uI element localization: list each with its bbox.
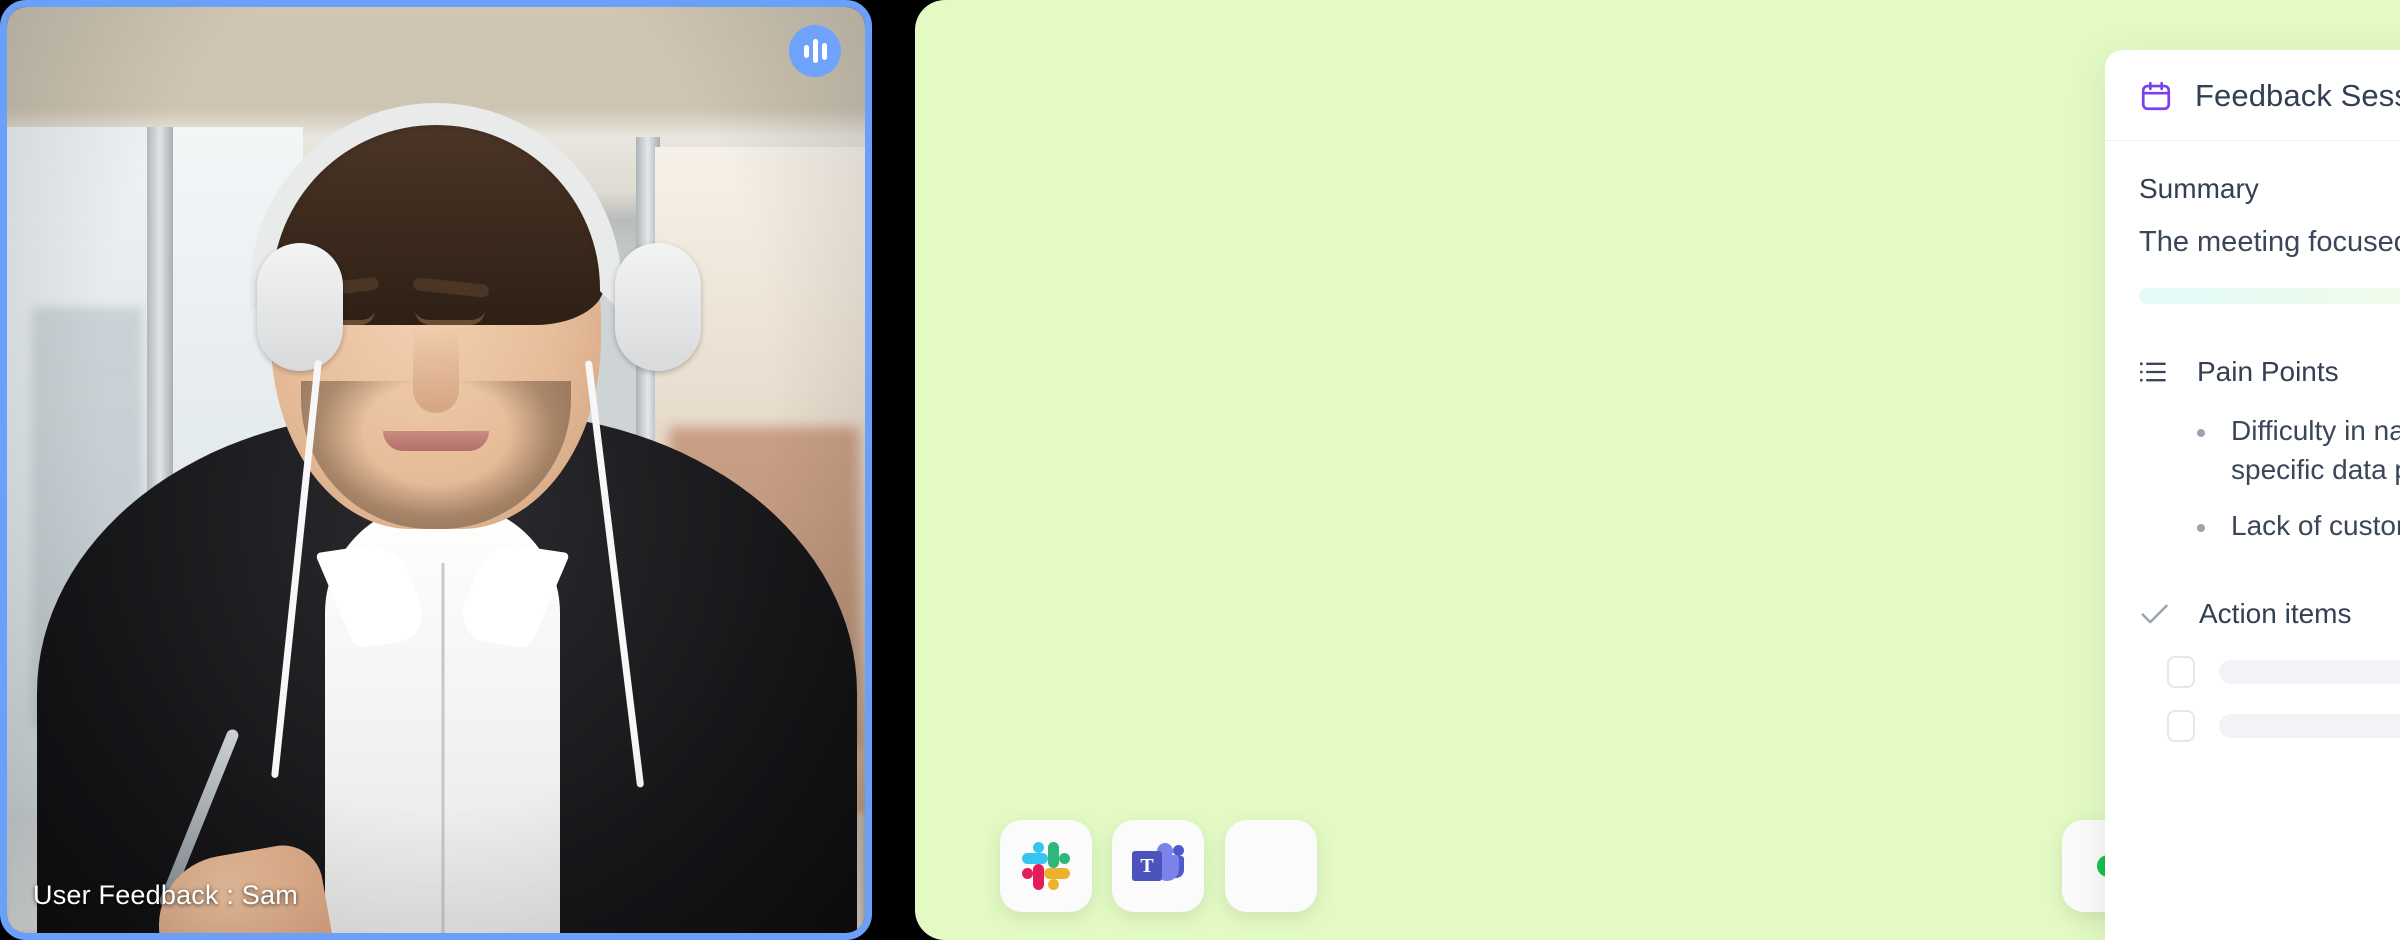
action-items-list bbox=[2167, 656, 2400, 742]
screen-root: User Feedback : Sam T bbox=[0, 0, 2400, 940]
slack-icon bbox=[1022, 842, 1070, 890]
summary-label: Summary bbox=[2139, 173, 2400, 205]
app-tile-microsoft-teams[interactable]: T bbox=[1112, 820, 1204, 912]
list-icon bbox=[2139, 360, 2167, 384]
pain-points-label: Pain Points bbox=[2197, 356, 2339, 388]
card-title: Feedback Session <> Sam bbox=[2195, 78, 2400, 114]
card-body: Summary The meeting focused on understan… bbox=[2105, 141, 2400, 742]
card-header: Feedback Session <> Sam bbox=[2105, 50, 2400, 141]
action-item-checkbox[interactable] bbox=[2167, 710, 2195, 742]
action-item-placeholder bbox=[2219, 660, 2400, 684]
pain-points-list: Difficulty in navigating the analytics d… bbox=[2189, 412, 2400, 546]
app-tile-partial-left[interactable] bbox=[1225, 820, 1317, 912]
microsoft-teams-icon: T bbox=[1132, 843, 1184, 889]
action-item-placeholder bbox=[2219, 714, 2400, 738]
list-item: Lack of customization options for profil… bbox=[2189, 507, 2400, 546]
summary-text: The meeting focused on understanding the… bbox=[2139, 223, 2400, 262]
meeting-summary-card: Feedback Session <> Sam Summary The meet… bbox=[2105, 50, 2400, 940]
calendar-icon bbox=[2139, 79, 2173, 113]
workspace-board: T N bbox=[915, 0, 2400, 940]
list-item[interactable] bbox=[2167, 656, 2400, 688]
app-tile-slack[interactable] bbox=[1000, 820, 1092, 912]
action-items-label: Action items bbox=[2199, 598, 2352, 630]
list-item: Difficulty in navigating the analytics d… bbox=[2189, 412, 2400, 489]
action-item-checkbox[interactable] bbox=[2167, 656, 2195, 688]
check-icon bbox=[2139, 601, 2169, 627]
participant-name-label: User Feedback : Sam bbox=[33, 880, 298, 911]
summary-progress-bar bbox=[2139, 288, 2400, 304]
video-tile[interactable]: User Feedback : Sam bbox=[0, 0, 872, 940]
pain-points-header: Pain Points bbox=[2139, 356, 2400, 388]
list-item[interactable] bbox=[2167, 710, 2400, 742]
audio-waveform-icon[interactable] bbox=[789, 25, 841, 77]
video-feed-image bbox=[7, 7, 865, 933]
action-items-header: Action items bbox=[2139, 598, 2400, 630]
